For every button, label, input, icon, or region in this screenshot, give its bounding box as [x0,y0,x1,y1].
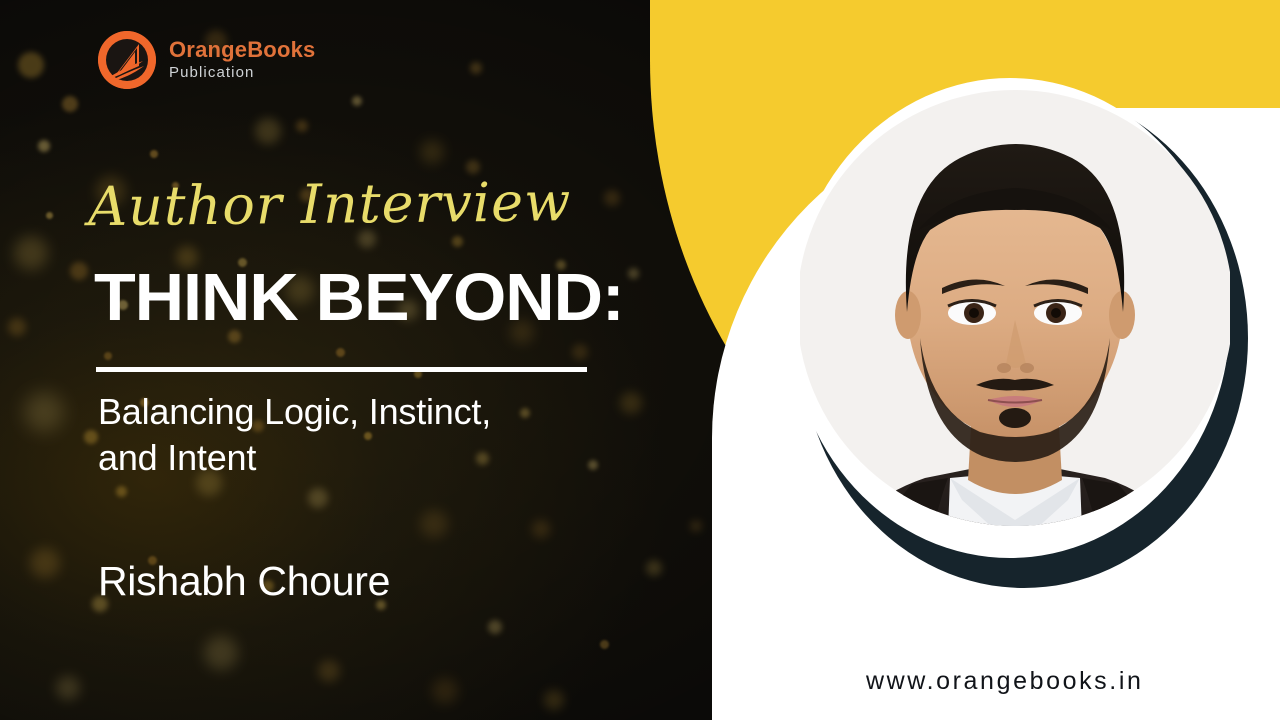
subtitle-line-2: and Intent [98,437,256,478]
author-interview-banner: OrangeBooks Publication Author Interview… [0,0,1280,720]
website-url: www.orangebooks.in [866,667,1144,696]
eyebrow-script-text: Author Interview [88,176,519,234]
brand-text: OrangeBooks Publication [169,38,315,81]
title-divider [96,367,587,372]
brand-subtitle: Publication [169,64,315,82]
author-portrait [800,80,1230,600]
subtitle-line-1: Balancing Logic, Instinct, [98,391,491,432]
author-name: Rishabh Choure [98,558,390,605]
page-title: THINK BEYOND: [94,266,624,330]
brand-logo: OrangeBooks Publication [98,31,315,89]
page-subtitle: Balancing Logic, Instinct, and Intent [98,389,598,481]
portrait-illustration [800,80,1230,600]
brand-name: OrangeBooks [169,38,315,61]
orangebooks-logo-icon [98,31,156,89]
logo-glyph [98,31,156,89]
